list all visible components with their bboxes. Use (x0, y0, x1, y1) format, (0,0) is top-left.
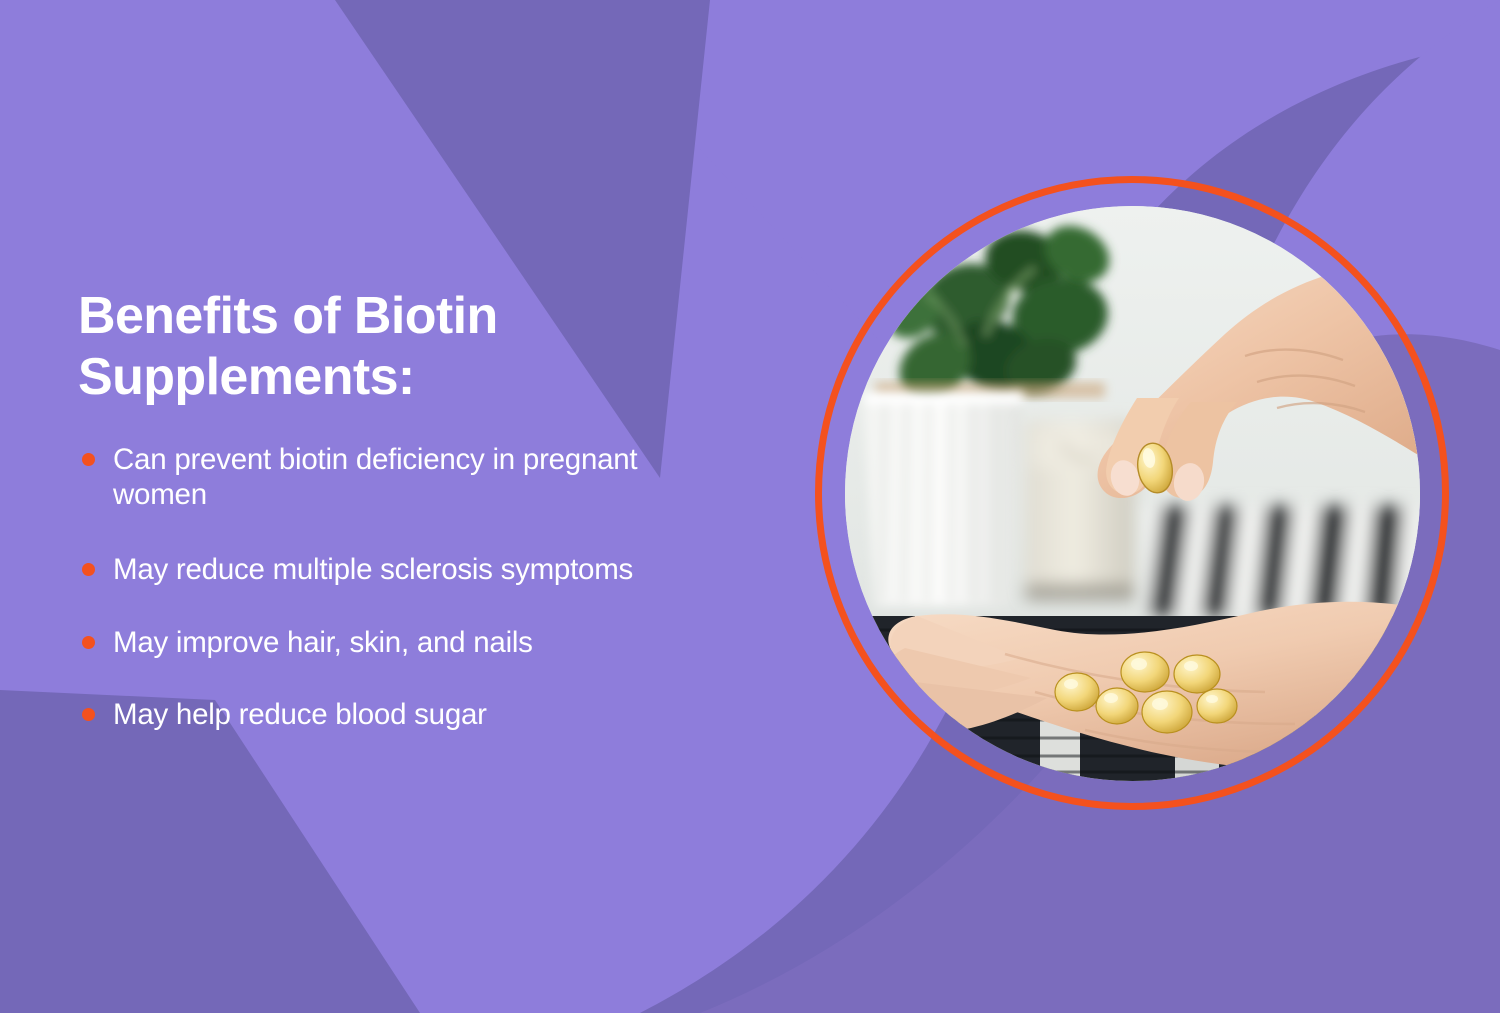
list-item-label: May improve hair, skin, and nails (113, 625, 733, 660)
benefits-list: Can prevent biotin deficiency in pregnan… (78, 442, 798, 733)
list-item: May reduce multiple sclerosis symptoms (78, 552, 733, 587)
list-item: Can prevent biotin deficiency in pregnan… (78, 442, 653, 513)
bullet-dot-icon (82, 453, 95, 466)
bullet-dot-icon (82, 708, 95, 721)
infographic-slide: Benefits of Biotin Supplements: Can prev… (0, 0, 1500, 1013)
list-item: May help reduce blood sugar (78, 697, 733, 732)
page-title: Benefits of Biotin Supplements: (78, 286, 578, 408)
list-item: May improve hair, skin, and nails (78, 625, 733, 660)
list-item-label: Can prevent biotin deficiency in pregnan… (113, 442, 653, 513)
bullet-dot-icon (82, 636, 95, 649)
list-item-label: May reduce multiple sclerosis symptoms (113, 552, 733, 587)
photo-ring-outline (815, 176, 1449, 810)
bullet-dot-icon (82, 563, 95, 576)
list-item-label: May help reduce blood sugar (113, 697, 733, 732)
content-column: Benefits of Biotin Supplements: Can prev… (78, 286, 798, 733)
